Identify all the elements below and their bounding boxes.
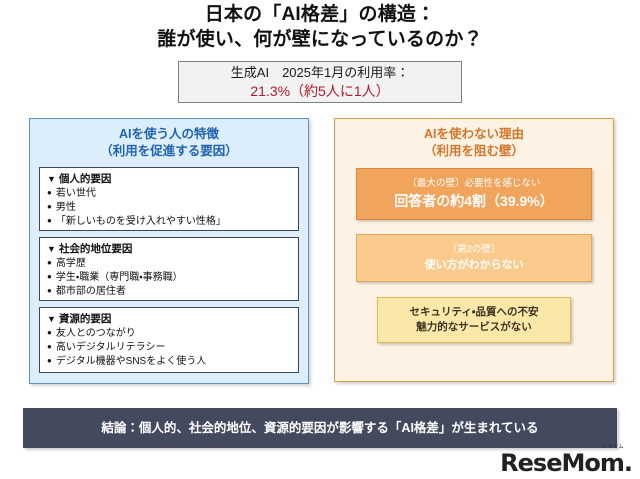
panel-ai-users-heading-line-1: AIを使う人の特徴 [30, 126, 308, 143]
panel-ai-nonusers-heading-line-2: （利用を阻む壁） [335, 143, 613, 160]
bullet-icon: ● [47, 328, 52, 337]
panel-ai-nonusers-header: AIを使わない理由 （利用を阻む壁） [335, 119, 613, 160]
list-item: ●高いデジタルリテラシー [47, 341, 292, 355]
bullet-icon: ● [47, 216, 52, 225]
bullet-icon: ● [47, 258, 52, 267]
bullet-icon: ● [47, 202, 52, 211]
list-item: ●「新しいものを受け入れやすい性格」 [47, 215, 292, 229]
page-title: 日本の「AI格差」の構造： 誰が使い、何が壁になっているのか？ [0, 2, 640, 52]
list-item: ●都市部の居住者 [47, 285, 292, 299]
panel-ai-nonusers: AIを使わない理由 （利用を阻む壁） 〔最大の壁〕必要性を感じない 回答者の約4… [334, 118, 614, 382]
factor-card-personal-title-text: 個人的要因 [59, 173, 112, 185]
barrier-card-other: セキュリティ・品質への不安 魅力的なサービスがない [377, 297, 571, 343]
factor-card-social-status: ▼社会的地位要因 ●高学歴 ●学生・職業（専門職・事務職） ●都市部の居住者 [39, 237, 299, 301]
list-item: ●学生・職業（専門職・事務職） [47, 271, 292, 285]
watermark-logo: リセマム ReseMom. [500, 445, 632, 475]
list-item: ●男性 [47, 201, 292, 215]
usage-rate-stat-box: 生成AI 2025年1月の利用率： 21.3%（約5人に1人） [178, 61, 462, 103]
barrier-card-other-line-1: セキュリティ・品質への不安 [410, 305, 539, 320]
list-item-label: 高いデジタルリテラシー [56, 342, 166, 353]
conclusion-text: 結論：個人的、社会的地位、資源的要因が影響する「AI格差」が生まれている [101, 419, 538, 437]
barrier-card-primary: 〔最大の壁〕必要性を感じない 回答者の約4割（39.9%） [356, 168, 592, 220]
usage-rate-label: 生成AI 2025年1月の利用率： [231, 64, 409, 82]
watermark-brand-name: ReseMom. [500, 451, 632, 475]
factor-card-social-status-title: ▼社会的地位要因 [47, 242, 292, 257]
list-item-label: デジタル機器やSNSをよく使う人 [56, 356, 206, 367]
list-item: ●友人とのつながり [47, 327, 292, 341]
conclusion-bar: 結論：個人的、社会的地位、資源的要因が影響する「AI格差」が生まれている [23, 408, 617, 448]
triangle-down-icon: ▼ [47, 244, 56, 254]
bullet-icon: ● [47, 356, 52, 365]
list-item-label: 若い世代 [56, 188, 96, 199]
factor-card-personal: ▼個人的要因 ●若い世代 ●男性 ●「新しいものを受け入れやすい性格」 [39, 167, 299, 231]
barrier-card-secondary-value: 使い方がわからない [425, 257, 524, 273]
factor-card-resources-title: ▼資源的要因 [47, 312, 292, 327]
barrier-card-primary-label: 〔最大の壁〕必要性を感じない [407, 177, 540, 191]
bullet-icon: ● [47, 286, 52, 295]
panel-ai-users: AIを使う人の特徴 （利用を促進する要因） ▼個人的要因 ●若い世代 ●男性 ●… [29, 118, 309, 384]
list-item-label: 都市部の居住者 [56, 286, 126, 297]
list-item-label: 高学歴 [56, 258, 86, 269]
factor-card-resources: ▼資源的要因 ●友人とのつながり ●高いデジタルリテラシー ●デジタル機器やSN… [39, 307, 299, 373]
barrier-card-secondary-label: 〔第2の壁〕 [448, 243, 501, 257]
panel-ai-users-heading-line-2: （利用を促進する要因） [30, 143, 308, 160]
bullet-icon: ● [47, 342, 52, 351]
bullet-icon: ● [47, 272, 52, 281]
usage-rate-value: 21.3%（約5人に1人） [250, 82, 389, 101]
list-item: ●若い世代 [47, 187, 292, 201]
page-title-line-1: 日本の「AI格差」の構造： [0, 2, 640, 27]
barrier-card-other-line-2: 魅力的なサービスがない [416, 320, 532, 335]
list-item-label: 友人とのつながり [56, 328, 136, 339]
factor-card-personal-title: ▼個人的要因 [47, 172, 292, 187]
list-item-label: 「新しいものを受け入れやすい性格」 [56, 216, 226, 227]
page-title-line-2: 誰が使い、何が壁になっているのか？ [0, 27, 640, 52]
factor-card-social-status-title-text: 社会的地位要因 [59, 243, 133, 255]
panel-ai-nonusers-heading-line-1: AIを使わない理由 [335, 126, 613, 143]
list-item: ●デジタル機器やSNSをよく使う人 [47, 355, 292, 369]
list-item: ●高学歴 [47, 257, 292, 271]
panel-ai-users-header: AIを使う人の特徴 （利用を促進する要因） [30, 119, 308, 160]
list-item-label: 男性 [56, 202, 76, 213]
barrier-card-secondary: 〔第2の壁〕 使い方がわからない [356, 234, 592, 282]
factor-card-resources-title-text: 資源的要因 [59, 313, 112, 325]
list-item-label: 学生・職業（専門職・事務職） [56, 272, 183, 283]
triangle-down-icon: ▼ [47, 174, 56, 184]
triangle-down-icon: ▼ [47, 314, 56, 324]
barrier-card-primary-value: 回答者の約4割（39.9%） [394, 191, 553, 211]
bullet-icon: ● [47, 188, 52, 197]
